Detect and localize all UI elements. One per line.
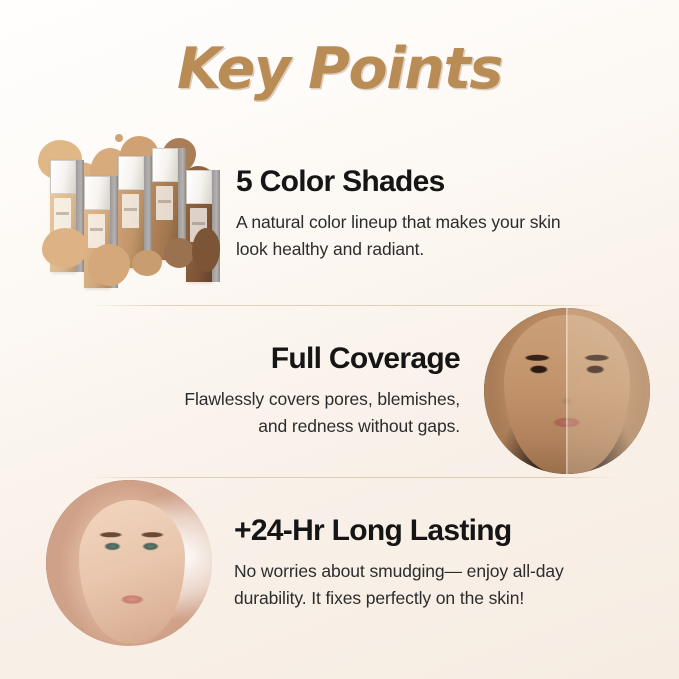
section-text-long-lasting: +24-Hr Long Lasting No worries about smu… [212, 514, 646, 611]
page-title: Key Points [177, 36, 502, 102]
section-body: A natural color lineup that makes your s… [236, 209, 646, 262]
foundation-swatch-blob [42, 228, 88, 268]
face-image [46, 480, 212, 646]
foundation-swatch-dot [115, 134, 123, 142]
section-long-lasting: +24-Hr Long Lasting No worries about smu… [46, 480, 646, 646]
foundation-bottles-lineup-image [36, 132, 222, 296]
section-body-line: A natural color lineup that makes your s… [236, 212, 560, 232]
bottle-label [122, 194, 139, 228]
bottle-label [54, 198, 71, 232]
bottle-label [156, 186, 173, 220]
section-heading: +24-Hr Long Lasting [234, 514, 646, 547]
section-divider [85, 477, 620, 478]
section-body-line: look healthy and radiant. [236, 239, 424, 259]
infographic-page: Key Points [0, 0, 679, 679]
section-body-line: durability. It fixes perfectly on the sk… [234, 588, 524, 608]
bottle-cap [152, 148, 178, 182]
section-divider [88, 305, 608, 306]
section-heading: 5 Color Shades [236, 165, 646, 198]
foundation-swatch-blob [132, 250, 162, 276]
bottle-cap [186, 170, 212, 204]
bottle-cap [84, 176, 110, 210]
bottle-cap [50, 160, 76, 194]
before-after-split-line [566, 308, 567, 474]
section-body-line: No worries about smudging— enjoy all-day [234, 561, 564, 581]
foundation-swatch-blob [164, 238, 194, 268]
section-heading: Full Coverage [110, 342, 460, 375]
section-text-full-coverage: Full Coverage Flawlessly covers pores, b… [110, 342, 484, 439]
section-color-shades: 5 Color Shades A natural color lineup th… [36, 132, 646, 296]
section-body-line: and redness without gaps. [258, 416, 460, 436]
page-title-container: Key Points [0, 36, 679, 102]
foundation-swatch-blob [88, 244, 130, 286]
section-body: No worries about smudging— enjoy all-day… [234, 558, 646, 611]
section-text-color-shades: 5 Color Shades A natural color lineup th… [222, 165, 646, 262]
bottle-cap [118, 156, 144, 190]
after-half-overlay [567, 308, 650, 474]
bottle-label [88, 214, 105, 248]
section-body-line: Flawlessly covers pores, blemishes, [184, 389, 460, 409]
foundation-swatch-blob [192, 228, 220, 272]
section-body: Flawlessly covers pores, blemishes, and … [110, 386, 460, 439]
model-portrait-photo [46, 480, 212, 646]
section-full-coverage: Full Coverage Flawlessly covers pores, b… [110, 308, 650, 474]
split-face-before-after-photo [484, 308, 650, 474]
